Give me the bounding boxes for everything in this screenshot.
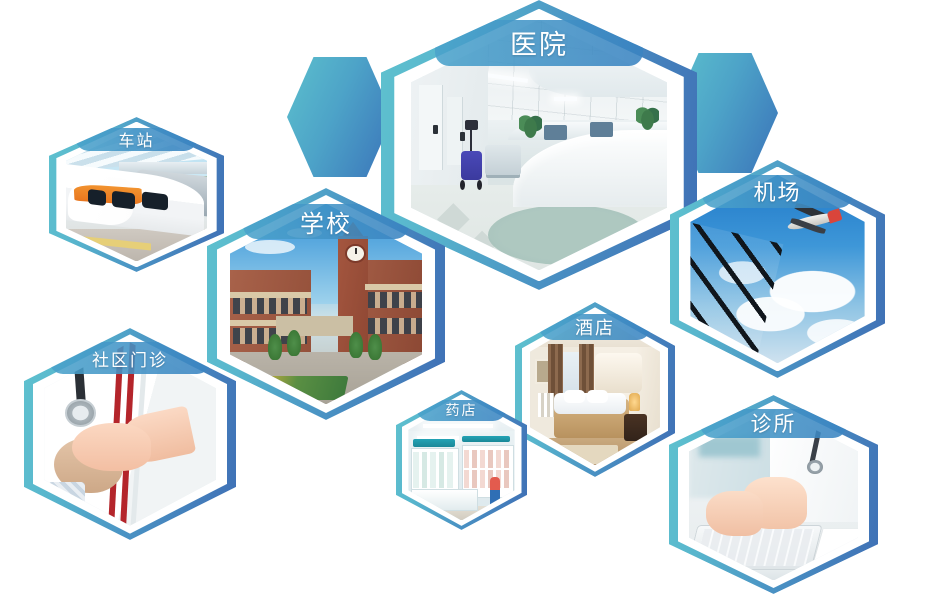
hexagon-cell-community-clinic[interactable]: 社区门诊 <box>24 328 236 540</box>
medical-cart <box>460 120 483 190</box>
hexagon-cell-pharmacy[interactable]: 药店 <box>396 390 527 530</box>
decorative-hexagon-left <box>287 57 393 177</box>
clock-icon <box>345 244 365 263</box>
hexagon-cell-station[interactable]: 车站 <box>49 117 224 272</box>
hexagon-infographic: 车站 <box>0 0 948 594</box>
hexagon-cell-airport[interactable]: 机场 <box>670 160 885 378</box>
hexagon-cell-hotel[interactable]: 酒店 <box>515 302 675 477</box>
hexagon-cell-clinic[interactable]: 诊所 <box>669 395 878 594</box>
